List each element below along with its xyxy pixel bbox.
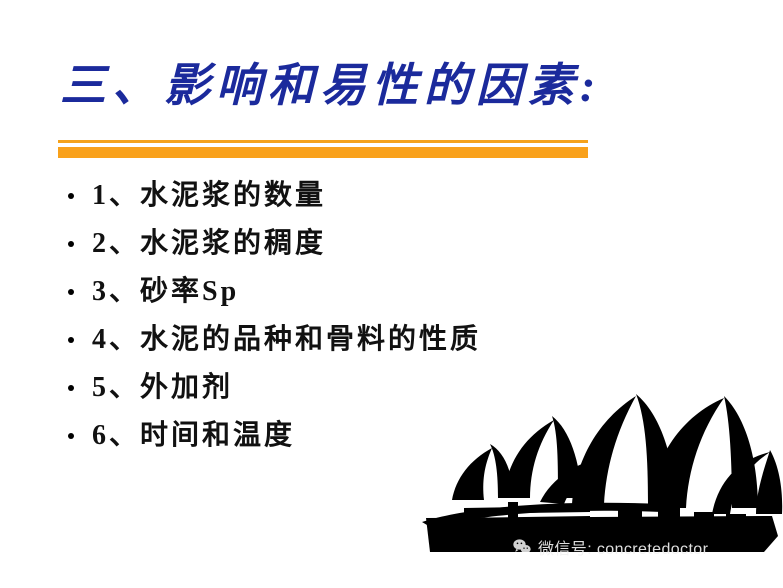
list-item-label: 1、水泥浆的数量 (92, 180, 326, 211)
title-divider (58, 140, 588, 158)
bullet-icon (68, 241, 74, 247)
bullet-icon (68, 337, 74, 343)
bullet-icon (68, 289, 74, 295)
bullet-icon (68, 385, 74, 391)
bullet-icon (68, 433, 74, 439)
slide-canvas: 三、影响和易性的因素: 1、水泥浆的数量 2、水泥浆的稠度 3、砂率Sp 4、水… (0, 0, 783, 588)
title-block: 三、影响和易性的因素: (60, 62, 660, 110)
list-item: 1、水泥浆的数量 (62, 172, 682, 220)
list-item-label: 5、外加剂 (92, 372, 233, 403)
sydney-opera-house-icon (412, 386, 783, 566)
list-item-label: 3、砂率Sp (92, 276, 239, 307)
list-item: 4、水泥的品种和骨料的性质 (62, 316, 682, 364)
page-title: 三、影响和易性的因素: (60, 62, 660, 110)
list-item-label: 2、水泥浆的稠度 (92, 228, 326, 259)
list-item: 3、砂率Sp (62, 268, 682, 316)
bullet-icon (68, 193, 74, 199)
list-item-label: 4、水泥的品种和骨料的性质 (92, 324, 481, 355)
list-item-label: 6、时间和温度 (92, 420, 295, 451)
divider-line-thick (58, 147, 588, 158)
list-item: 2、水泥浆的稠度 (62, 220, 682, 268)
